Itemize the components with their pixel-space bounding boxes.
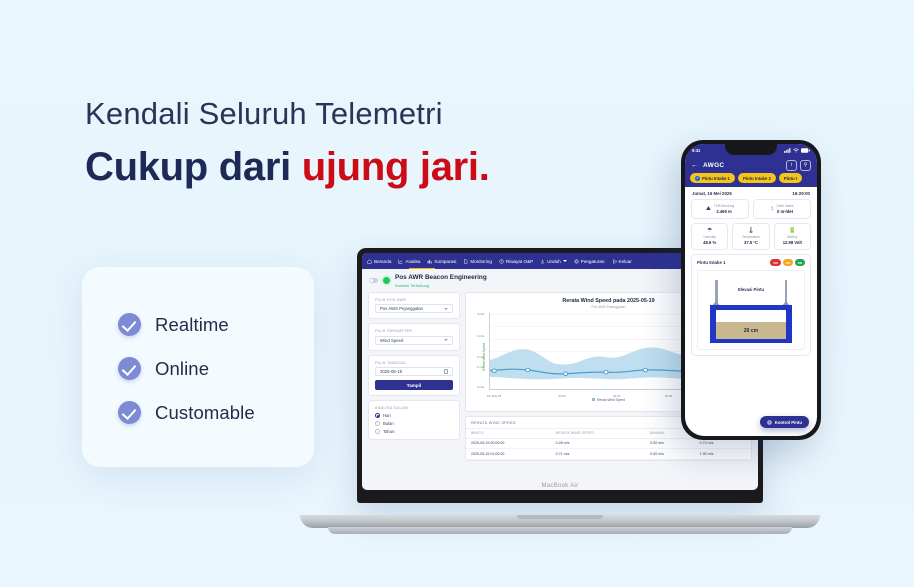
tab-pintu-intake-2[interactable]: Pintu Intake 2 xyxy=(738,173,776,183)
date-input-value: 2025-05-19 xyxy=(380,369,402,374)
gate-rail-left xyxy=(715,280,718,304)
tab-pintu-intake-3[interactable]: Pintu I xyxy=(779,173,802,183)
table-cell: 0.00 m/s xyxy=(645,449,695,460)
gate-frame: 20 cm xyxy=(710,305,792,343)
nav-active-indicator xyxy=(409,268,435,270)
table-cell: 0.00 m/s xyxy=(645,438,695,449)
table-cell: 2025-05-19 01:00:00 xyxy=(466,449,551,460)
feature-label: Customable xyxy=(155,402,255,424)
search-icon[interactable]: ⚲ xyxy=(800,160,811,171)
signal-icon xyxy=(784,148,791,153)
hero-headline-plain: Cukup dari xyxy=(85,145,302,189)
nav-item-label: Unduh xyxy=(547,259,561,264)
check-circle-icon xyxy=(118,313,141,336)
nav-item-analisa[interactable]: Analisa xyxy=(398,259,420,264)
legend-label: Rerata Wind Speed xyxy=(597,398,625,402)
nav-item-keluar[interactable]: Keluar xyxy=(612,259,632,264)
tab-label: Pintu I xyxy=(784,176,797,181)
metric-value: 12.98 Volt xyxy=(783,240,802,245)
gate-inner: 20 cm xyxy=(716,310,786,339)
legend-marker-icon xyxy=(592,398,595,401)
status-badge-red: ON xyxy=(770,259,780,266)
hero-headline-accent: ujung jari. xyxy=(302,145,490,189)
connection-status: Koneksi Terhubung xyxy=(395,283,487,288)
tab-pintu-intake-1[interactable]: ✓ Pintu Intake 1 xyxy=(690,173,735,183)
flow-icon: ↕ xyxy=(770,206,773,212)
tab-label: Pintu Intake 1 xyxy=(702,176,730,181)
gate-visualization: Elevasi Pintu 20 cm xyxy=(697,270,805,350)
metric-row-2: ☂ Humidity 48.6 % 🌡 Temperature 37.5 °C … xyxy=(685,223,817,251)
nav-item-label: Beranda xyxy=(374,259,391,264)
document-icon xyxy=(463,259,468,264)
pos-select-value: Pos AWS Pejanggalan xyxy=(380,306,423,311)
home-icon xyxy=(367,259,372,264)
wifi-icon xyxy=(793,148,799,153)
metric-label: Debit Intake xyxy=(776,204,793,208)
check-circle-icon xyxy=(118,401,141,424)
sidebar-toggle-icon[interactable] xyxy=(369,278,378,283)
gate-water-fill: 20 cm xyxy=(716,322,786,339)
radio-option-bulan[interactable]: Bulan xyxy=(375,421,453,426)
nav-item-label: Keluar xyxy=(619,259,632,264)
nav-item-label: Analisa xyxy=(405,259,420,264)
status-badge-orange: ON xyxy=(783,259,793,266)
nav-item-monitoring[interactable]: Monitoring xyxy=(463,259,491,264)
list-item: Realtime xyxy=(118,313,314,336)
status-indicator-dot xyxy=(383,277,390,284)
metric-label: Battery xyxy=(787,235,797,239)
hero-text-block: Kendali Seluruh Telemetri Cukup dari uju… xyxy=(85,95,625,190)
hero-headline: Cukup dari ujung jari. xyxy=(85,144,625,190)
gear-icon xyxy=(767,420,772,425)
feature-label: Online xyxy=(155,358,209,380)
phone-tabs: ✓ Pintu Intake 1 Pintu Intake 2 Pintu I xyxy=(685,173,817,187)
pos-filter-panel: PILIH POS AWR Pos AWS Pejanggalan xyxy=(368,292,460,320)
date-field-label: PILIH TANGGAL xyxy=(375,361,453,365)
table-row: 2025-05-19 01:00:00 0.71 m/s 0.00 m/s 1.… xyxy=(466,449,751,460)
current-date: Jumat, 16 Mei 2025 xyxy=(692,191,732,196)
date-input[interactable]: 2025-05-19 xyxy=(375,367,453,376)
nav-item-label: Monitoring xyxy=(470,259,491,264)
download-icon xyxy=(540,259,545,264)
logout-icon xyxy=(612,259,617,264)
radio-icon xyxy=(375,429,380,434)
gear-icon xyxy=(574,259,579,264)
date-filter-panel: PILIH TANGGAL 2025-05-19 Tampil xyxy=(368,355,460,397)
metric-label: TMA Bendung xyxy=(714,204,734,208)
dam-icon: ⛰ xyxy=(706,206,711,212)
table-cell: 0.71 m/s xyxy=(551,449,646,460)
gate-rail-right xyxy=(785,280,788,304)
pos-select[interactable]: Pos AWS Pejanggalan xyxy=(375,304,453,313)
status-badge-green: ON xyxy=(795,259,805,266)
nav-item-label: Pengaturan xyxy=(581,259,605,264)
radio-icon xyxy=(375,421,380,426)
parameter-select-value: Wind Speed xyxy=(380,338,403,343)
metric-tma-bendung: ⛰ TMA Bendung 2.469 m xyxy=(691,199,749,219)
feature-label: Realtime xyxy=(155,314,229,336)
nav-item-label: Komparasi xyxy=(434,259,456,264)
chart-icon xyxy=(398,259,403,264)
parameter-filter-panel: PILIH PARAMETER Wind Speed xyxy=(368,323,460,351)
phone-header: ← AWGC i ⚲ xyxy=(685,157,817,173)
metric-value: 48.6 % xyxy=(703,240,716,245)
table-cell: 2025-05-19 00:00:00 xyxy=(466,438,551,449)
laptop-foot xyxy=(328,527,792,534)
metric-humidity: ☂ Humidity 48.6 % xyxy=(691,223,728,251)
nav-item-unduh[interactable]: Unduh xyxy=(540,259,567,264)
filter-sidebar: PILIH POS AWR Pos AWS Pejanggalan PILIH … xyxy=(368,292,460,461)
gate-status-card: Pintu Intake 1 ON ON ON Elevasi Pintu 20… xyxy=(691,254,811,356)
list-item: Customable xyxy=(118,401,314,424)
check-circle-icon xyxy=(118,357,141,380)
nav-item-riwayat-op[interactable]: Riwayat O&P xyxy=(499,259,533,264)
column-header: RERATA WIND SPEED xyxy=(551,428,646,438)
nav-item-komparasi[interactable]: Komparasi xyxy=(427,259,456,264)
gate-title: Pintu Intake 1 xyxy=(697,260,726,265)
phone-notch xyxy=(725,144,777,155)
table-cell: 1.90 m/s xyxy=(695,449,751,460)
humidity-icon: ☂ xyxy=(707,228,712,234)
metric-label: Temperature xyxy=(742,235,760,239)
gate-status-pills: ON ON ON xyxy=(770,259,805,266)
hero-subheadline: Kendali Seluruh Telemetri xyxy=(85,95,625,134)
metric-debit-intake: ↕ Debit Intake 0 m³/det xyxy=(753,199,811,219)
gate-elevation-label: Elevasi Pintu xyxy=(698,287,804,292)
phone-date-bar: Jumat, 16 Mei 2025 16:29:00 xyxy=(685,187,817,199)
kontrol-pintu-button[interactable]: Kontrol Pintu xyxy=(760,416,809,428)
parameter-field-label: PILIH PARAMETER xyxy=(375,329,453,333)
laptop-model-label: MacBook Air xyxy=(362,483,758,489)
metric-value: 2.469 m xyxy=(716,209,731,214)
pos-field-label: PILIH POS AWR xyxy=(375,298,453,302)
page-title: Pos AWR Beacon Engineering xyxy=(395,274,487,282)
y-tick: 0 m/s xyxy=(477,385,484,389)
radio-label: Bulan xyxy=(383,421,394,426)
radio-label: Tahun xyxy=(383,429,394,434)
status-icons xyxy=(784,148,810,153)
radio-label: Hari xyxy=(383,413,391,418)
metric-temperature: 🌡 Temperature 37.5 °C xyxy=(732,223,769,251)
metric-row-1: ⛰ TMA Bendung 2.469 m ↕ Debit Intake 0 m… xyxy=(685,199,817,219)
nav-item-pengaturan[interactable]: Pengaturan xyxy=(574,259,605,264)
radio-icon xyxy=(375,413,380,418)
chevron-down-icon xyxy=(444,308,448,310)
feature-card: Realtime Online Customable xyxy=(82,267,314,467)
nav-item-label: Riwayat O&P xyxy=(506,259,533,264)
calendar-icon xyxy=(444,369,449,374)
y-tick: 2 m/s xyxy=(477,355,484,359)
tab-label: Pintu Intake 2 xyxy=(743,176,771,181)
history-icon xyxy=(499,259,504,264)
phone-mockup: 9:41 ← AWGC i ⚲ ✓ Pintu Intake 1 Pintu I… xyxy=(681,140,821,440)
kontrol-pintu-label: Kontrol Pintu xyxy=(775,420,802,425)
app-title: AWGC xyxy=(703,162,724,169)
radio-option-hari[interactable]: Hari xyxy=(375,413,453,418)
chevron-down-icon xyxy=(563,260,567,262)
metric-value: 0 m³/det xyxy=(777,209,793,214)
metric-value: 37.5 °C xyxy=(744,240,758,245)
thermometer-icon: 🌡 xyxy=(747,228,755,234)
list-item: Online xyxy=(118,357,314,380)
analysis-label: ANALISA DALAM xyxy=(375,406,453,410)
chevron-down-icon xyxy=(444,339,448,341)
parameter-select[interactable]: Wind Speed xyxy=(375,336,453,345)
gate-elevation-value: 20 cm xyxy=(744,328,758,334)
column-header: WAKTU xyxy=(466,428,551,438)
tampil-button[interactable]: Tampil xyxy=(375,380,453,390)
header-actions: i ⚲ xyxy=(786,160,811,171)
gate-header: Pintu Intake 1 ON ON ON xyxy=(697,259,805,266)
y-tick: 1 m/s xyxy=(477,365,484,369)
battery-icon xyxy=(801,148,810,153)
phone-screen: 9:41 ← AWGC i ⚲ ✓ Pintu Intake 1 Pintu I… xyxy=(685,144,817,436)
battery-icon: 🔋 xyxy=(789,228,796,234)
bar-compare-icon xyxy=(427,259,432,264)
info-icon[interactable]: i xyxy=(786,160,797,171)
y-tick: 3 m/s xyxy=(477,334,484,338)
metric-label: Humidity xyxy=(703,235,715,239)
table-cell: 0.28 m/s xyxy=(551,438,646,449)
current-time: 16:29:00 xyxy=(792,191,810,196)
nav-item-beranda[interactable]: Beranda xyxy=(367,259,391,264)
analysis-scope-panel: ANALISA DALAM Hari Bulan Tahun xyxy=(368,400,460,440)
metric-battery: 🔋 Battery 12.98 Volt xyxy=(774,223,811,251)
y-tick: 4 m/s xyxy=(477,312,484,316)
radio-option-tahun[interactable]: Tahun xyxy=(375,429,453,434)
back-arrow-icon[interactable]: ← xyxy=(691,162,698,169)
check-icon: ✓ xyxy=(695,176,700,181)
status-time: 9:41 xyxy=(692,148,700,153)
